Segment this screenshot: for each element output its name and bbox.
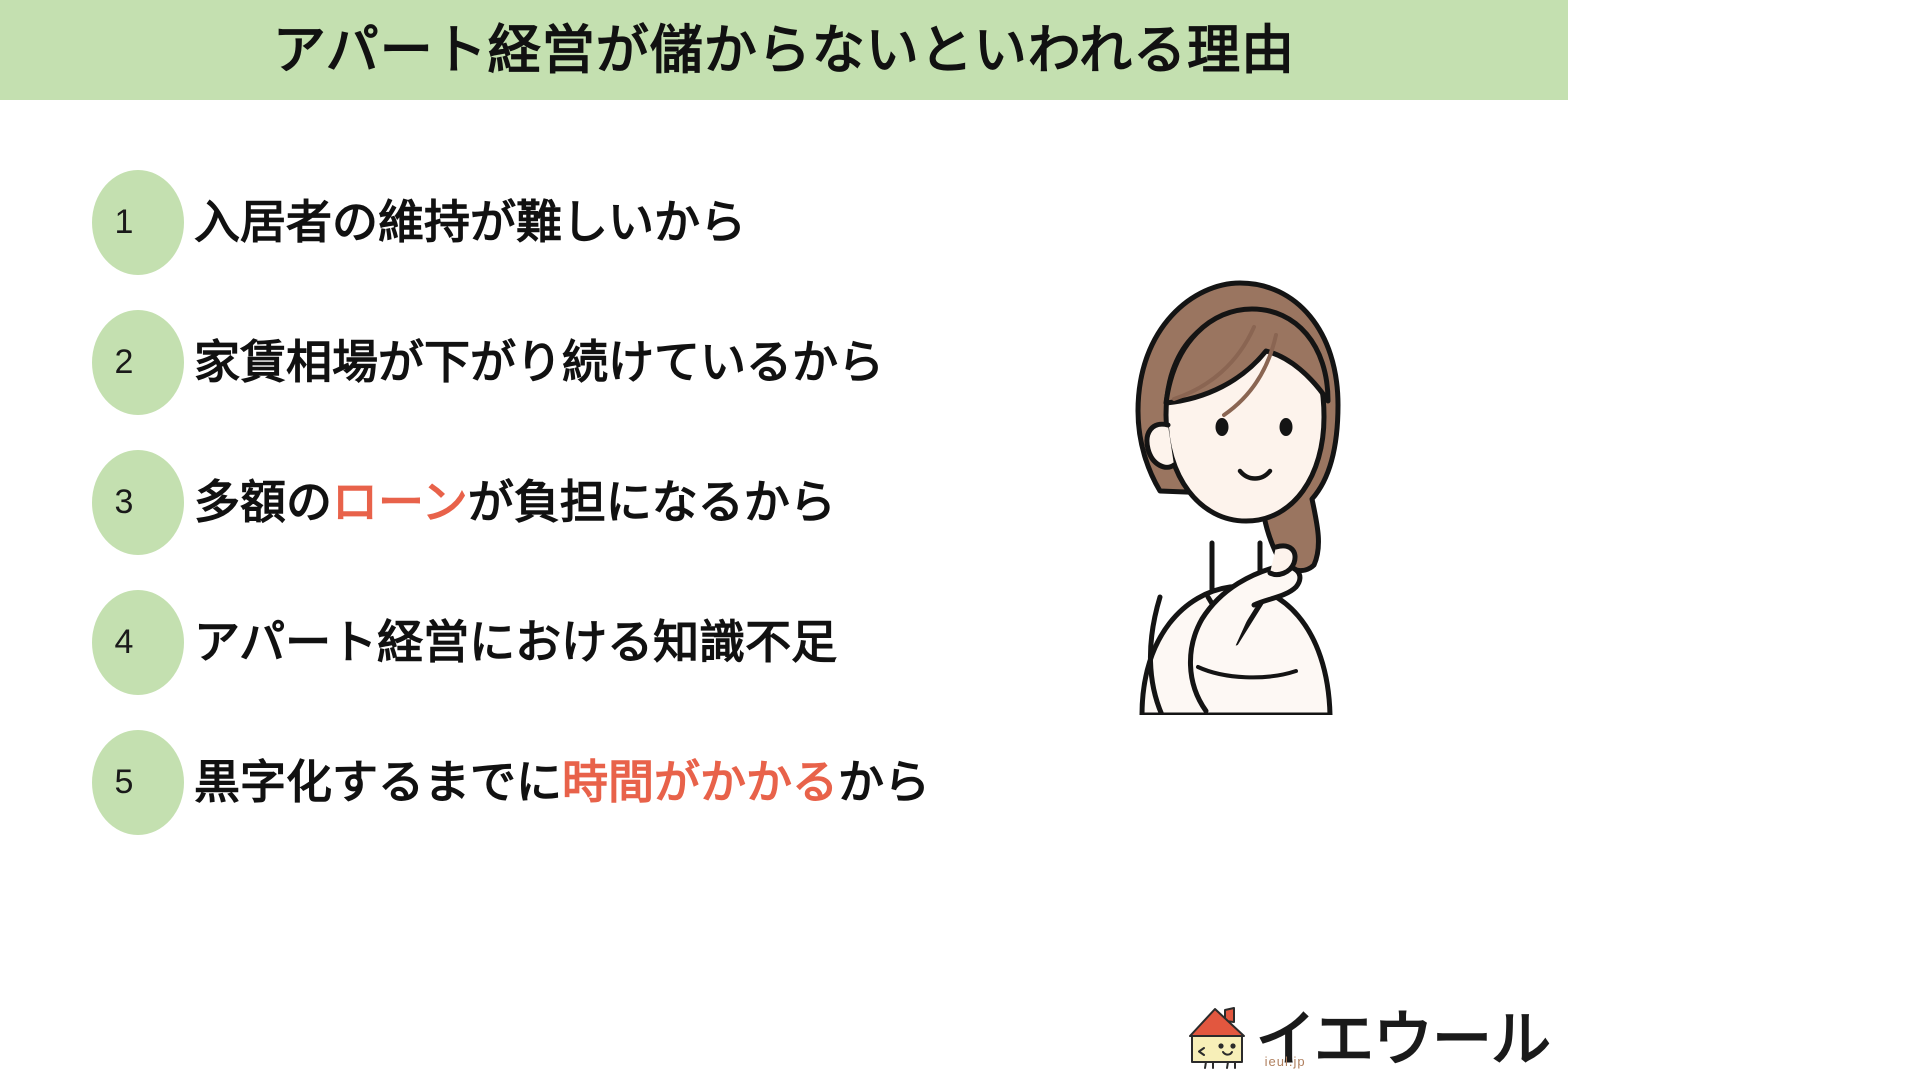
list-item-text: 入居者の維持が難しいから [194, 196, 746, 249]
logo: イエウール ieul.jp [1184, 992, 1550, 1070]
number-label: 2 [115, 345, 134, 379]
text-segment: 黒字化するまでに [194, 756, 562, 808]
text-segment-highlight: ローン [332, 476, 468, 528]
thinking-woman-illustration [1090, 275, 1370, 715]
text-segment: アパート経営における知識不足 [194, 616, 837, 668]
number-badge: 1 [92, 170, 184, 275]
logo-domain: ieul.jp [1265, 1055, 1306, 1068]
list-item-text: 黒字化するまでに時間がかかるから [194, 756, 930, 809]
text-segment: 家賃相場が下がり続けているから [194, 336, 884, 388]
list-item: 4 アパート経営における知識不足 [92, 572, 1102, 712]
number-badge: 4 [92, 590, 184, 695]
reasons-list: 1 入居者の維持が難しいから 2 家賃相場が下がり続けているから 3 多額のロー… [92, 152, 1102, 852]
text-segment: 多額の [194, 476, 332, 528]
slide-root: アパート経営が儲からないといわれる理由 1 入居者の維持が難しいから 2 家賃相… [0, 0, 1568, 1080]
number-label: 1 [115, 205, 134, 239]
logo-text: イエウール ieul.jp [1256, 1011, 1550, 1070]
number-badge: 5 [92, 730, 184, 835]
number-badge: 2 [92, 310, 184, 415]
list-item-text: 家賃相場が下がり続けているから [194, 336, 884, 389]
list-item-text: アパート経営における知識不足 [194, 616, 837, 669]
number-label: 3 [115, 485, 134, 519]
text-segment-highlight: 時間がかかる [562, 756, 838, 808]
number-label: 5 [115, 765, 134, 799]
page-title: アパート経営が儲からないといわれる理由 [273, 24, 1295, 77]
text-segment: 入居者の維持が難しいから [194, 196, 746, 248]
number-label: 4 [115, 625, 134, 659]
list-item-text: 多額のローンが負担になるから [194, 476, 836, 529]
text-segment: が負担になるから [468, 476, 836, 528]
list-item: 2 家賃相場が下がり続けているから [92, 292, 1102, 432]
number-badge: 3 [92, 450, 184, 555]
list-item: 1 入居者の維持が難しいから [92, 152, 1102, 292]
text-segment: から [838, 756, 930, 808]
header-band: アパート経営が儲からないといわれる理由 [0, 0, 1568, 100]
list-item: 5 黒字化するまでに時間がかかるから [92, 712, 1102, 852]
house-mascot-icon [1184, 1004, 1250, 1070]
list-item: 3 多額のローンが負担になるから [92, 432, 1102, 572]
